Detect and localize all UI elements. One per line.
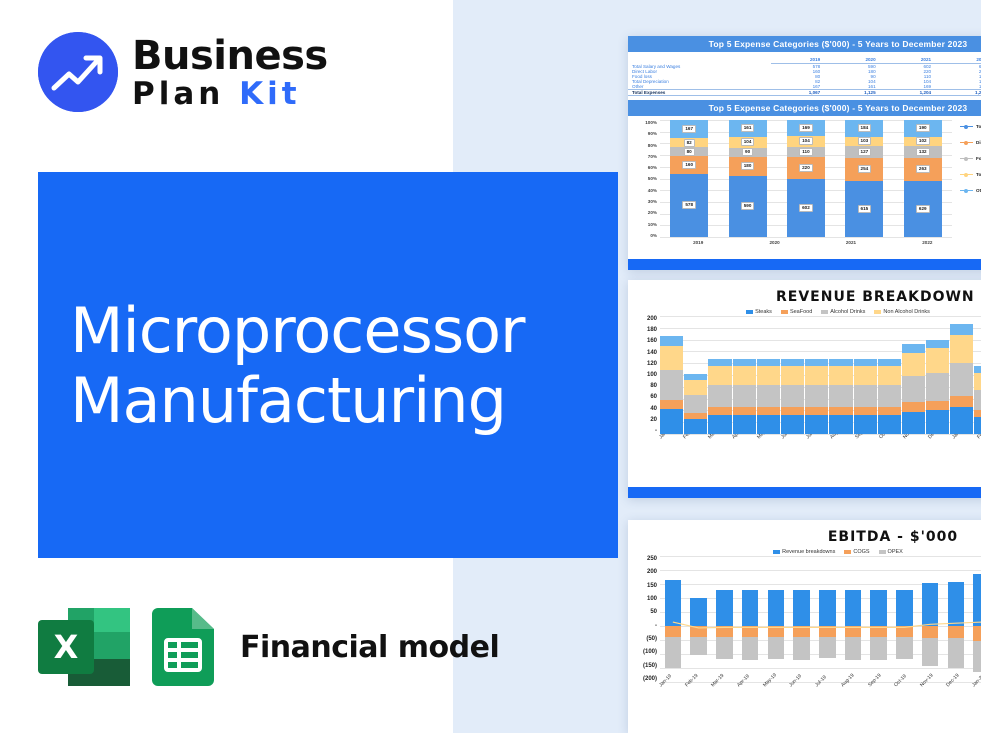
bar-segment <box>974 417 981 434</box>
expense-chart-yaxis: 100%90%80%70%60%50%40%30%20%10%0% <box>634 120 660 238</box>
bar-segment <box>829 407 852 414</box>
bar-segment: 103 <box>845 137 883 146</box>
bar-segment <box>781 415 804 434</box>
bar-segment <box>902 353 925 376</box>
bar-revenue <box>922 583 938 626</box>
axis-tick: 2022 <box>908 240 946 245</box>
stacked-bar <box>757 359 780 434</box>
card-bottom-bar <box>628 259 981 270</box>
axis-tick: 80 <box>630 383 657 389</box>
axis-tick: 50% <box>634 176 657 181</box>
legend-swatch <box>874 310 881 314</box>
legend-item: Direct Labor <box>960 140 981 145</box>
bar-segment <box>708 366 731 385</box>
bar-segment <box>878 359 901 366</box>
axis-tick: 180 <box>630 327 657 333</box>
bar-opex <box>690 637 706 656</box>
bar-segment <box>805 366 828 385</box>
bar-value-label: 220 <box>799 164 813 172</box>
bar-opex <box>665 637 681 668</box>
stacked-bar <box>805 359 828 434</box>
legend-swatch <box>960 174 973 175</box>
gridline <box>660 328 981 329</box>
bar-opex <box>768 637 784 659</box>
bar-segment <box>757 415 780 434</box>
bar-segment <box>974 373 981 390</box>
ebitda-card: EBITDA - $'000 Revenue breakdownsCOGSOPE… <box>628 520 981 733</box>
axis-tick: (150) <box>630 663 657 669</box>
page-title: Microprocessor Manufacturing <box>70 296 610 436</box>
bar-segment <box>878 366 901 385</box>
bar-segment <box>733 415 756 434</box>
bar-segment <box>708 359 731 366</box>
axis-tick: 2020 <box>756 240 794 245</box>
legend-item: SeaFood <box>781 309 812 315</box>
bar-segment <box>757 385 780 407</box>
bar-segment <box>974 366 981 373</box>
bar-revenue <box>973 574 981 626</box>
axis-tick: 70% <box>634 154 657 159</box>
bar-cogs <box>742 626 758 637</box>
bar-value-label: 104 <box>799 137 813 145</box>
bar-segment: 82 <box>670 138 708 147</box>
bar-segment <box>781 366 804 385</box>
bar-segment <box>902 402 925 411</box>
bar-segment <box>805 385 828 407</box>
bar-segment <box>781 359 804 366</box>
bar-opex <box>896 637 912 659</box>
bar-segment <box>684 419 707 434</box>
bar-value-label: 80 <box>684 148 695 156</box>
stacked-bar: 184103127254615 <box>845 120 883 237</box>
bar-segment: 104 <box>787 136 825 146</box>
legend-swatch <box>746 310 753 314</box>
legend-swatch <box>773 550 780 554</box>
expense-table-banner: Top 5 Expense Categories ($'000) - 5 Yea… <box>628 36 981 52</box>
bar-cogs <box>870 626 886 637</box>
bar-cogs <box>793 626 809 637</box>
axis-tick: - <box>630 428 657 434</box>
bar-segment <box>950 335 973 363</box>
bar-segment: 190 <box>904 120 942 137</box>
bar-opex <box>845 637 861 660</box>
ebitda-chart-title: EBITDA - $'000 <box>628 520 981 547</box>
bar-segment <box>878 407 901 414</box>
legend-item: Non Alcohol Drinks <box>874 309 929 315</box>
bar-value-label: 90 <box>742 148 753 156</box>
legend-item: Revenue breakdowns <box>773 549 835 555</box>
bar-value-label: 82 <box>684 139 695 147</box>
bar-cogs <box>922 626 938 638</box>
bar-segment <box>733 366 756 385</box>
bar-value-label: 104 <box>741 138 755 146</box>
bar-segment: 132 <box>904 146 942 158</box>
legend-label: Food loss <box>976 156 981 161</box>
bar-segment <box>708 385 731 407</box>
axis-tick: 40% <box>634 188 657 193</box>
bar-value-label: 629 <box>916 205 930 213</box>
legend-swatch <box>960 190 973 191</box>
bar-revenue <box>819 590 835 626</box>
legend-swatch <box>960 142 973 143</box>
file-format-label: Financial model <box>240 630 499 665</box>
bar-opex <box>819 637 835 659</box>
expense-stacked-chart: 100%90%80%70%60%50%40%30%20%10%0% 167828… <box>628 116 981 247</box>
bar-segment: 169 <box>787 120 825 136</box>
bar-segment <box>757 366 780 385</box>
bar-value-label: 110 <box>799 148 812 156</box>
axis-tick: (50) <box>630 636 657 642</box>
bar-segment <box>829 385 852 407</box>
stacked-bar: 1678280160578 <box>670 120 708 237</box>
bar-segment: 220 <box>787 157 825 178</box>
bar-value-label: 127 <box>858 148 872 156</box>
legend-label: Revenue breakdowns <box>782 549 835 555</box>
file-format-footer: X Financial model <box>38 608 499 686</box>
axis-tick: 90% <box>634 131 657 136</box>
bar-segment <box>829 359 852 366</box>
bar-segment <box>902 412 925 434</box>
bar-segment: 263 <box>904 158 942 181</box>
bar-segment <box>926 401 949 410</box>
bar-segment <box>733 407 756 414</box>
bar-segment <box>757 407 780 414</box>
bar-opex <box>870 637 886 660</box>
bar-cogs <box>948 626 964 638</box>
legend-swatch <box>960 158 973 159</box>
table-total-row: Total Expenses1,0671,1251,2041,2841,316 <box>628 90 981 96</box>
bar-segment <box>878 385 901 407</box>
ebitda-chart-legend: Revenue breakdownsCOGSOPEX <box>628 547 981 556</box>
bar-segment <box>854 359 877 366</box>
bar-cogs <box>690 626 706 637</box>
bar-segment <box>829 366 852 385</box>
bar-revenue <box>716 590 732 626</box>
bar-value-label: 160 <box>682 161 696 169</box>
legend-swatch <box>879 550 886 554</box>
expense-chart-xaxis: 20192020202120222023 <box>634 240 981 245</box>
bar-segment <box>781 407 804 414</box>
bar-segment <box>854 385 877 407</box>
gridline <box>660 570 981 571</box>
legend-label: Other <box>976 188 981 193</box>
stacked-bar <box>684 374 707 434</box>
stacked-bar <box>902 344 925 434</box>
bar-segment: 104 <box>729 137 767 148</box>
bar-value-label: 590 <box>741 202 755 210</box>
revenue-chart-legend: SteaksSeaFoodAlcohol DrinksNon Alcohol D… <box>628 307 981 316</box>
bar-segment: 110 <box>787 147 825 158</box>
legend-swatch <box>821 310 828 314</box>
bar-segment <box>660 400 683 409</box>
brand-plan-word: Plan <box>132 76 224 112</box>
bar-segment <box>708 415 731 434</box>
legend-item: Food loss <box>960 156 981 161</box>
bar-segment <box>829 415 852 434</box>
bar-value-label: 102 <box>916 137 930 145</box>
axis-tick: 200 <box>630 569 657 575</box>
axis-tick: 10% <box>634 222 657 227</box>
legend-label: Total Salary and Wages <box>976 124 981 129</box>
ebitda-chart-plot <box>660 556 981 682</box>
stacked-bar <box>878 359 901 434</box>
axis-tick: 60 <box>630 394 657 400</box>
stacked-bar: 190102132263629 <box>904 120 942 237</box>
bar-segment <box>950 324 973 335</box>
legend-item: Other <box>960 188 981 193</box>
stacked-bar <box>926 340 949 434</box>
bar-segment: 160 <box>670 156 708 174</box>
bar-segment: 80 <box>670 147 708 156</box>
expense-categories-card: Top 5 Expense Categories ($'000) - 5 Yea… <box>628 36 981 270</box>
bar-segment <box>733 385 756 407</box>
axis-tick: 80% <box>634 143 657 148</box>
expense-chart-plot: 1678280160578161104901805901691041102206… <box>660 120 952 238</box>
bar-segment: 602 <box>787 179 825 237</box>
bar-opex <box>948 638 964 667</box>
axis-tick: 120 <box>630 361 657 367</box>
bar-cogs <box>819 626 835 637</box>
ebitda-chart-yaxis: 25020015010050-(50)(100)(150)(200) <box>630 556 660 682</box>
legend-label: OPEX <box>888 549 903 555</box>
bar-segment <box>757 359 780 366</box>
bar-segment <box>974 410 981 417</box>
axis-tick: 40 <box>630 406 657 412</box>
bar-segment <box>708 407 731 414</box>
bar-value-label: 615 <box>858 205 872 213</box>
axis-tick: 100 <box>630 372 657 378</box>
bar-opex <box>793 637 809 660</box>
brand-name-line1: Business <box>132 36 328 76</box>
stacked-bar <box>950 324 973 434</box>
axis-tick: 150 <box>630 583 657 589</box>
legend-swatch <box>781 310 788 314</box>
gridline <box>660 237 952 238</box>
bar-revenue <box>896 590 912 626</box>
bar-segment: 127 <box>845 146 883 158</box>
legend-label: Total Depreciation <box>976 172 981 177</box>
legend-item: Total Salary and Wages <box>960 124 981 129</box>
gridline <box>660 316 981 317</box>
legend-label: COGS <box>853 549 869 555</box>
stacked-bar: 169104110220602 <box>787 120 825 237</box>
axis-tick: 140 <box>630 350 657 356</box>
axis-tick: (200) <box>630 676 657 682</box>
bar-segment: 254 <box>845 158 883 181</box>
bar-revenue <box>870 590 886 626</box>
ebitda-chart-xaxis: Jan-19Feb-19Mar-19Apr-19May-19Jun-19Jul-… <box>628 682 981 690</box>
growth-arrow-icon <box>38 32 118 112</box>
bar-revenue <box>665 580 681 626</box>
bar-segment <box>950 396 973 407</box>
bar-value-label: 578 <box>682 201 696 209</box>
stacked-bar <box>781 359 804 434</box>
legend-item: OPEX <box>879 549 903 555</box>
legend-item: Total Depreciation <box>960 172 981 177</box>
bar-value-label: 167 <box>682 125 696 133</box>
bar-segment <box>805 407 828 414</box>
axis-tick: 100 <box>630 596 657 602</box>
bar-revenue <box>948 582 964 626</box>
axis-tick: 20% <box>634 210 657 215</box>
axis-tick: 60% <box>634 165 657 170</box>
stacked-bar <box>829 359 852 434</box>
axis-tick: 250 <box>630 556 657 562</box>
expense-chart-banner: Top 5 Expense Categories ($'000) - 5 Yea… <box>628 100 981 116</box>
bar-value-label: 602 <box>799 204 813 212</box>
bar-value-label: 263 <box>916 165 930 173</box>
bar-segment: 578 <box>670 174 708 237</box>
bar-segment <box>660 346 683 370</box>
legend-item: Alcohol Drinks <box>821 309 865 315</box>
bar-segment <box>684 380 707 395</box>
bar-segment <box>854 415 877 434</box>
bar-segment <box>660 336 683 345</box>
bar-segment <box>878 415 901 434</box>
legend-label: Direct Labor <box>976 140 981 145</box>
bar-segment <box>902 344 925 353</box>
bar-revenue <box>845 590 861 626</box>
bar-segment <box>660 409 683 434</box>
bar-value-label: 184 <box>858 124 872 132</box>
revenue-breakdown-card: REVENUE BREAKDOWN - $'0 SteaksSeaFoodAlc… <box>628 280 981 498</box>
bar-opex <box>922 638 938 666</box>
microsoft-excel-icon: X <box>38 608 130 686</box>
card-bottom-bar <box>628 487 981 498</box>
bar-segment <box>854 366 877 385</box>
google-sheets-icon <box>152 608 214 686</box>
bar-segment <box>926 340 949 349</box>
bar-segment <box>950 407 973 434</box>
bar-segment <box>805 359 828 366</box>
bar-segment: 629 <box>904 181 942 237</box>
bar-segment: 102 <box>904 137 942 146</box>
axis-tick: - <box>630 623 657 629</box>
legend-item: Steaks <box>746 309 772 315</box>
bar-segment <box>684 395 707 413</box>
bar-segment: 615 <box>845 181 883 237</box>
stacked-bar <box>708 359 731 434</box>
legend-label: Steaks <box>755 309 772 315</box>
axis-tick: 50 <box>630 609 657 615</box>
axis-tick: 20 <box>630 417 657 423</box>
axis-tick: (100) <box>630 649 657 655</box>
bar-cogs <box>716 626 732 637</box>
axis-tick: 160 <box>630 338 657 344</box>
legend-label: SeaFood <box>790 309 812 315</box>
bar-segment <box>926 348 949 372</box>
stacked-bar <box>974 366 981 434</box>
bar-segment <box>733 359 756 366</box>
revenue-chart-title: REVENUE BREAKDOWN - $'0 <box>628 280 981 307</box>
legend-swatch <box>844 550 851 554</box>
bar-opex <box>973 641 981 673</box>
bar-value-label: 180 <box>741 162 755 170</box>
legend-item: COGS <box>844 549 869 555</box>
bar-value-label: 161 <box>741 124 755 132</box>
bar-segment <box>805 415 828 434</box>
legend-label: Alcohol Drinks <box>830 309 865 315</box>
bar-segment <box>974 390 981 409</box>
bar-segment: 590 <box>729 176 767 237</box>
axis-tick: 2021 <box>832 240 870 245</box>
bar-cogs <box>845 626 861 637</box>
bar-segment: 90 <box>729 148 767 157</box>
axis-tick: 30% <box>634 199 657 204</box>
brand-logo: Business Plan Kit <box>38 32 328 112</box>
bar-value-label: 132 <box>916 148 930 156</box>
axis-tick: 200 <box>630 316 657 322</box>
legend-label: Non Alcohol Drinks <box>883 309 929 315</box>
bar-value-label: 254 <box>858 165 872 173</box>
bar-revenue <box>768 590 784 626</box>
bar-segment: 180 <box>729 157 767 176</box>
axis-tick: 2019 <box>679 240 717 245</box>
brand-kit-word: Kit <box>239 76 300 112</box>
bar-cogs <box>768 626 784 637</box>
bar-segment <box>660 370 683 400</box>
expense-table: 20192020202120222023 Total Salary and Wa… <box>628 57 981 96</box>
bar-opex <box>716 637 732 659</box>
svg-text:X: X <box>54 628 79 666</box>
bar-segment: 184 <box>845 120 883 137</box>
bar-cogs <box>665 626 681 637</box>
brand-name-line2: Plan Kit <box>132 79 328 110</box>
bar-segment <box>854 407 877 414</box>
revenue-chart-plot <box>660 316 981 434</box>
bar-segment <box>902 376 925 403</box>
stacked-bar <box>733 359 756 434</box>
expense-chart-legend: Total Salary and WagesDirect LaborFood l… <box>960 124 981 204</box>
bar-segment <box>926 410 949 434</box>
stacked-bar: 16110490180590 <box>729 120 767 237</box>
bar-segment <box>926 373 949 401</box>
stacked-bar <box>660 336 683 434</box>
bar-value-label: 169 <box>799 124 813 132</box>
bar-segment <box>781 385 804 407</box>
axis-tick: 0% <box>634 233 657 238</box>
bar-segment: 161 <box>729 120 767 137</box>
bar-value-label: 190 <box>916 124 930 132</box>
revenue-chart-yaxis: 20018016014012010080604020- <box>630 316 660 434</box>
bar-revenue <box>742 590 758 626</box>
bar-segment: 167 <box>670 120 708 138</box>
bar-cogs <box>973 626 981 641</box>
stacked-bar <box>854 359 877 434</box>
bar-revenue <box>793 590 809 626</box>
gridline <box>660 556 981 557</box>
bar-revenue <box>690 598 706 626</box>
legend-swatch <box>960 126 973 127</box>
bar-cogs <box>896 626 912 637</box>
axis-tick: 100% <box>634 120 657 125</box>
bar-segment <box>950 363 973 395</box>
bar-value-label: 103 <box>858 137 872 145</box>
bar-opex <box>742 637 758 660</box>
revenue-chart-xaxis: Jan-19Feb-19Mar-19Apr-19May-19Jun-19Jul-… <box>628 434 981 442</box>
